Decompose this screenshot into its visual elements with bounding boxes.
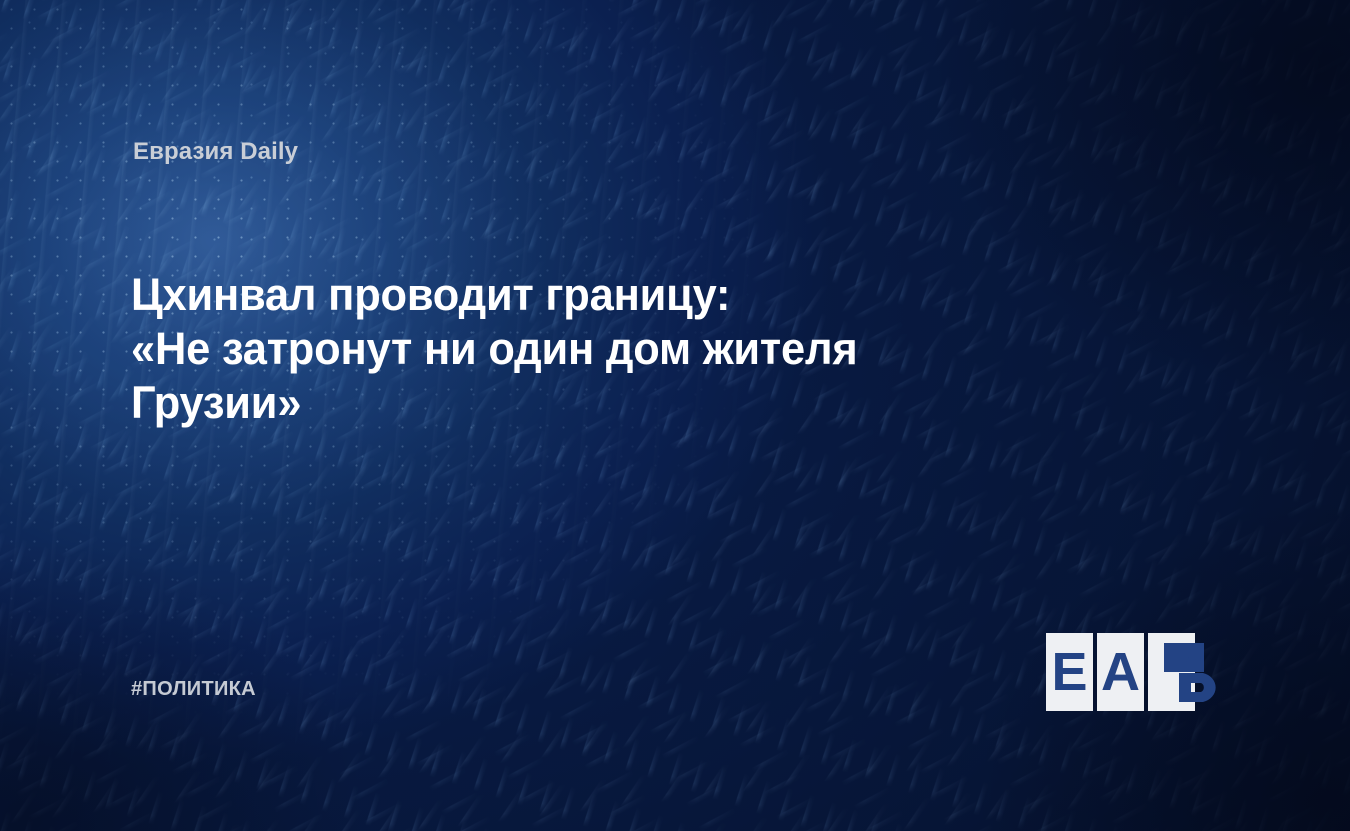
page-title: Цхинвал проводит границу: «Не затронут н…: [131, 268, 1057, 430]
category-hashtag[interactable]: #ПОЛИТИКА: [131, 678, 256, 701]
headline-line-1: Цхинвал проводит границу:: [131, 268, 1057, 322]
headline-line-2: «Не затронут ни один дом жителя: [131, 322, 1057, 376]
news-share-card: Евразия Daily Цхинвал проводит границу: …: [0, 0, 1350, 831]
logo-letter-e: E: [1046, 633, 1093, 711]
brand-title: Евразия Daily: [133, 138, 298, 166]
card-content: Евразия Daily Цхинвал проводит границу: …: [0, 0, 1350, 831]
logo-letter-a: A: [1097, 633, 1144, 711]
headline-line-3: Грузии»: [131, 376, 1057, 430]
logo-letter-d-split-icon: [1148, 633, 1221, 711]
eadaily-logo[interactable]: E A: [1046, 633, 1221, 711]
